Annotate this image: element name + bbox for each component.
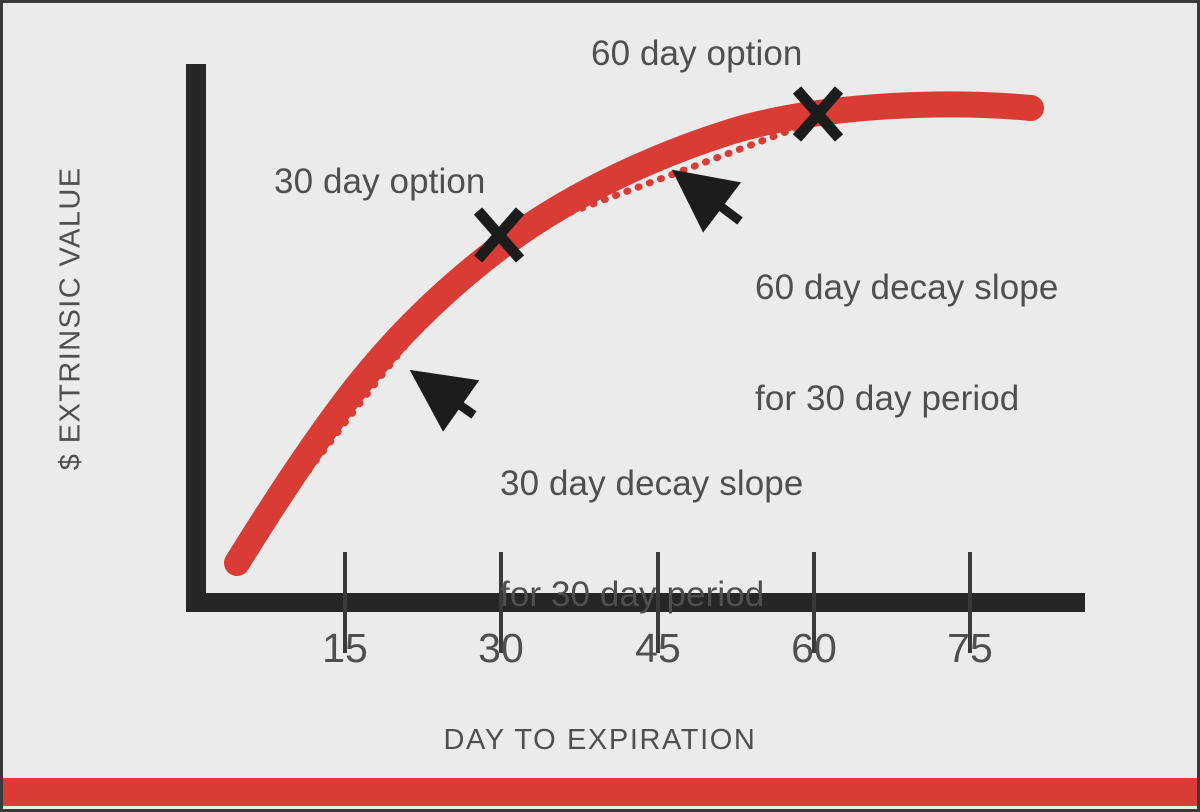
x-tick-label-15: 15 — [300, 627, 390, 670]
y-axis-line — [186, 64, 206, 611]
note-60-day-decay-slope-line2: for 30 day period — [755, 380, 1058, 417]
label-60-day-option: 60 day option — [591, 35, 802, 72]
x-axis-title: DAY TO EXPIRATION — [3, 725, 1197, 756]
y-axis-title: $ EXTRINSIC VALUE — [56, 148, 87, 488]
arrow-to-30-day-slope — [417, 375, 474, 415]
footer-accent-bar — [3, 778, 1197, 806]
note-60-day-decay-slope: 60 day decay slope for 30 day period — [755, 195, 1058, 492]
label-30-day-option: 30 day option — [274, 163, 485, 200]
arrow-to-60-day-slope — [679, 175, 740, 221]
note-60-day-decay-slope-line1: 60 day decay slope — [755, 269, 1058, 306]
x-tick-label-75: 75 — [925, 627, 1015, 670]
chart-figure: $ EXTRINSIC VALUE DAY TO EXPIRATION 15 3… — [0, 0, 1200, 812]
note-30-day-decay-slope-line2: for 30 day period — [500, 576, 803, 613]
